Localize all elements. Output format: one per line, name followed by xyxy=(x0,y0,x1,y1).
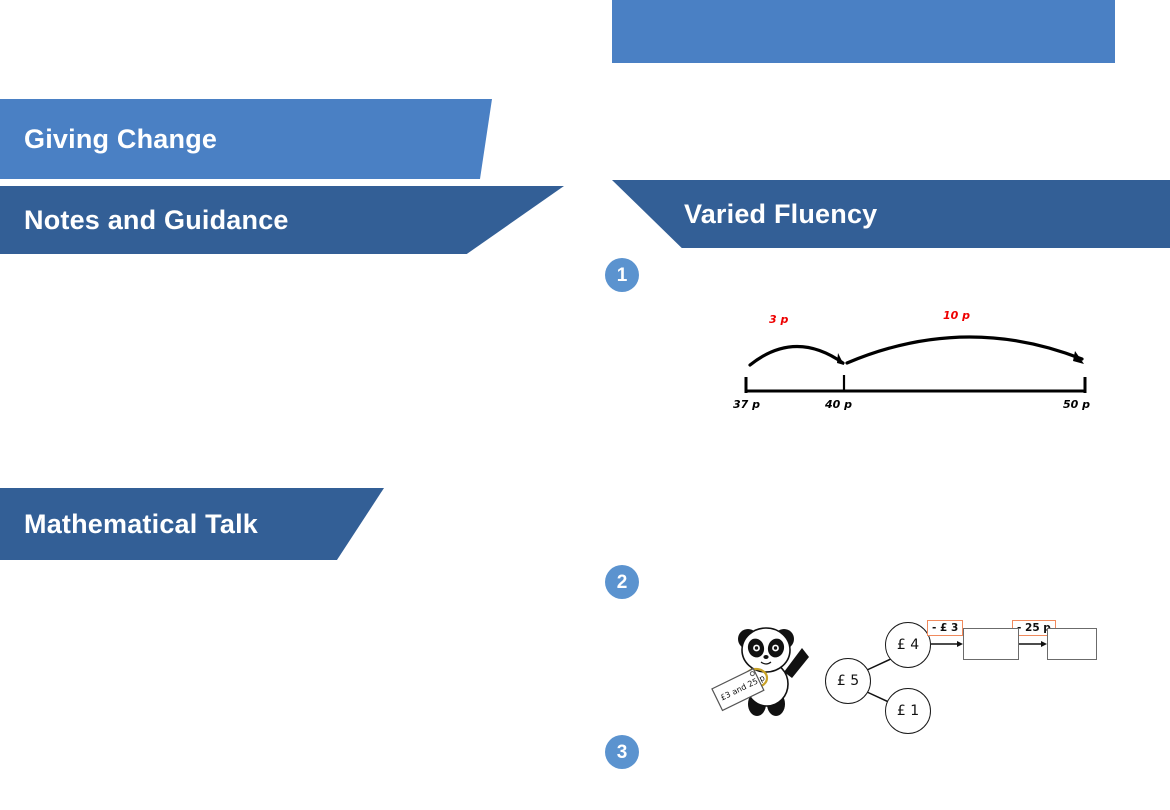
question-1-number-line: 3 p 10 p 37 p 40 p 50 p xyxy=(725,305,1105,420)
title-banner-giving-change: Giving Change xyxy=(0,99,492,179)
jump-arc-10p xyxy=(847,337,1082,363)
part-whole-whole: £ 5 xyxy=(825,658,871,704)
jump-label-1: 3 p xyxy=(769,313,788,326)
section-banner-varied-fluency: Varied Fluency xyxy=(612,180,1170,248)
question-number-badge-1: 1 xyxy=(605,258,639,292)
tick-label-end: 50 p xyxy=(1063,398,1090,411)
tick-label-middle: 40 p xyxy=(825,398,852,411)
part-whole-part-1: £ 4 xyxy=(885,622,931,668)
varied-fluency-label: Varied Fluency xyxy=(684,199,877,230)
answer-box-1[interactable] xyxy=(963,628,1019,660)
header-accent-block xyxy=(612,0,1115,63)
operation-tag-1: - £ 3 xyxy=(927,620,963,636)
mathematical-talk-label: Mathematical Talk xyxy=(24,509,258,540)
part-whole-part-2: £ 1 xyxy=(885,688,931,734)
notes-and-guidance-label: Notes and Guidance xyxy=(24,205,289,236)
worksheet-page: Giving Change Notes and Guidance Mathema… xyxy=(0,0,1170,810)
section-banner-mathematical-talk: Mathematical Talk xyxy=(0,488,384,560)
answer-box-2[interactable] xyxy=(1047,628,1097,660)
section-banner-notes-and-guidance: Notes and Guidance xyxy=(0,186,564,254)
tick-label-start: 37 p xyxy=(733,398,760,411)
question-number-badge-2: 2 xyxy=(605,565,639,599)
jump-label-2: 10 p xyxy=(943,309,970,322)
jump-arrow-3p xyxy=(837,353,844,365)
page-title: Giving Change xyxy=(24,124,217,155)
question-2-part-whole-and-flow: £3 and 25 p £ 5 £ 4 £ 1 - £ 3 - 25 p xyxy=(705,600,1115,740)
jump-arc-3p xyxy=(750,346,843,365)
question-number-badge-3: 3 xyxy=(605,735,639,769)
